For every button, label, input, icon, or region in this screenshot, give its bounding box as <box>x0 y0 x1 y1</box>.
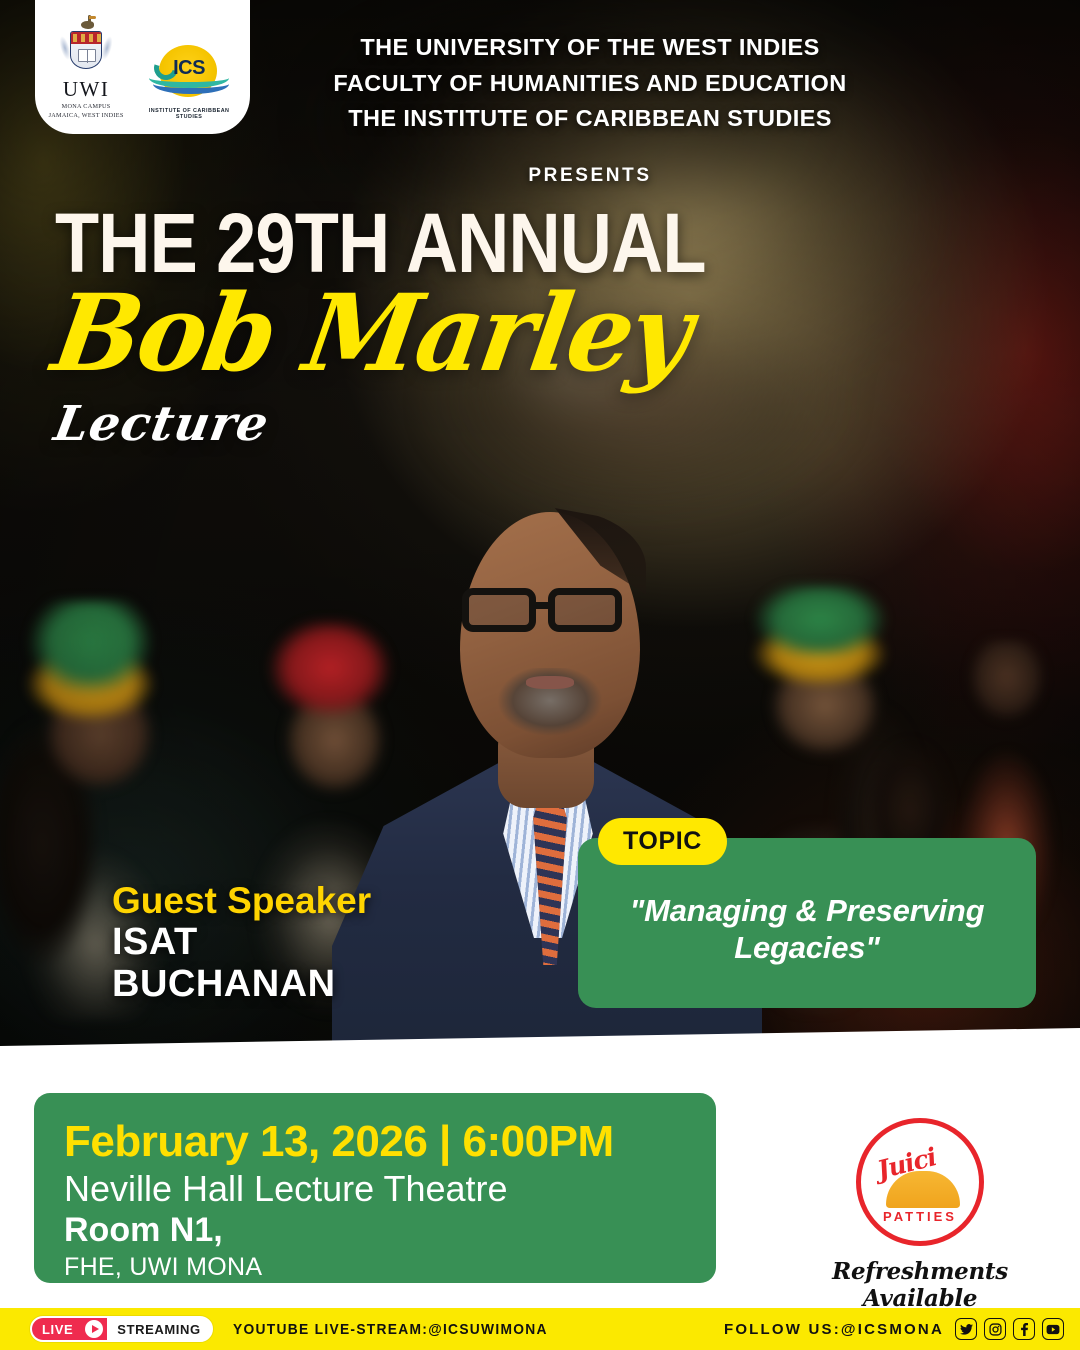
crest-shield <box>70 31 102 69</box>
wave-blue-icon <box>153 84 229 94</box>
footer-bar: LIVE STREAMING YOUTUBE LIVE-STREAM:@ICSU… <box>0 1308 1080 1350</box>
juici-patties-logo-icon: Juici PATTIES <box>856 1118 984 1246</box>
header-line-1: THE UNIVERSITY OF THE WEST INDIES <box>240 30 940 66</box>
youtube-handle[interactable]: YOUTUBE LIVE-STREAM:@ICSUWIMONA <box>233 1321 548 1338</box>
speaker-first-name: ISAT <box>112 921 371 964</box>
title-bob-marley: Bob Marley <box>47 280 798 386</box>
play-triangle <box>92 1325 99 1333</box>
institution-logos: UWI MONA CAMPUS JAMAICA, WEST INDIES ICS… <box>35 0 250 134</box>
instagram-icon[interactable] <box>984 1318 1006 1340</box>
streaming-label: STREAMING <box>107 1318 210 1340</box>
pelican-icon <box>79 15 95 32</box>
uwi-wordmark: UWI <box>45 79 127 100</box>
title-lecture: Lecture <box>51 400 816 448</box>
header-text: THE UNIVERSITY OF THE WEST INDIES FACULT… <box>240 30 940 187</box>
ics-subtitle: INSTITUTE OF CARIBBEAN STUDIES <box>138 108 240 120</box>
play-button-icon <box>81 1318 107 1340</box>
uwi-campus-line1: MONA CAMPUS <box>45 103 127 111</box>
topic-text: "Managing & Preserving Legacies" <box>600 892 1014 966</box>
event-details-box: February 13, 2026 | 6:00PM Neville Hall … <box>34 1093 716 1283</box>
live-label: LIVE <box>32 1318 81 1340</box>
eyeglasses-icon <box>460 588 642 634</box>
youtube-icon[interactable] <box>1042 1318 1064 1340</box>
social-links: FOLLOW US:@ICSMONA <box>724 1318 1064 1340</box>
event-venue: Neville Hall Lecture Theatre <box>64 1168 686 1210</box>
event-date-time: February 13, 2026 | 6:00PM <box>64 1119 686 1165</box>
live-streaming-badge[interactable]: LIVE STREAMING <box>30 1316 213 1342</box>
topic-badge: TOPIC <box>598 818 727 865</box>
facebook-icon[interactable] <box>1013 1318 1035 1340</box>
pelican-body <box>81 21 94 29</box>
mouth <box>526 676 574 689</box>
refreshments-caption: Refreshments Available <box>800 1258 1040 1312</box>
presents-label: PRESENTS <box>240 165 940 187</box>
event-poster: UWI MONA CAMPUS JAMAICA, WEST INDIES ICS… <box>0 0 1080 1350</box>
crest-band <box>71 32 101 44</box>
guest-speaker-label: Guest Speaker <box>112 882 371 921</box>
event-room: Room N1, <box>64 1211 686 1250</box>
uwi-campus-line2: JAMAICA, WEST INDIES <box>45 112 127 120</box>
open-book-icon <box>78 49 96 62</box>
ics-logo: ICS INSTITUTE OF CARIBBEAN STUDIES <box>138 44 240 120</box>
uwi-crest-icon <box>57 15 115 77</box>
ics-wordmark: ICS <box>173 57 205 80</box>
pelican-beak <box>89 16 96 19</box>
lens-right <box>548 588 622 632</box>
ics-mark-icon: ICS <box>143 44 235 106</box>
speaker-info: Guest Speaker ISAT BUCHANAN <box>112 882 371 1006</box>
follow-us-label: FOLLOW US:@ICSMONA <box>724 1321 944 1338</box>
header-line-3: THE INSTITUTE OF CARIBBEAN STUDIES <box>240 101 940 137</box>
sponsor-block: Juici PATTIES Refreshments Available <box>800 1118 1040 1312</box>
speaker-last-name: BUCHANAN <box>112 963 371 1006</box>
lens-left <box>462 588 536 632</box>
page-title: THE 29TH ANNUAL Bob Marley Lecture <box>55 205 812 448</box>
play-circle <box>85 1320 103 1338</box>
uwi-logo: UWI MONA CAMPUS JAMAICA, WEST INDIES <box>45 15 127 120</box>
event-faculty: FHE, UWI MONA <box>64 1252 686 1282</box>
twitter-icon[interactable] <box>955 1318 977 1340</box>
patties-wordmark: PATTIES <box>861 1209 979 1224</box>
header-line-2: FACULTY OF HUMANITIES AND EDUCATION <box>240 66 940 102</box>
